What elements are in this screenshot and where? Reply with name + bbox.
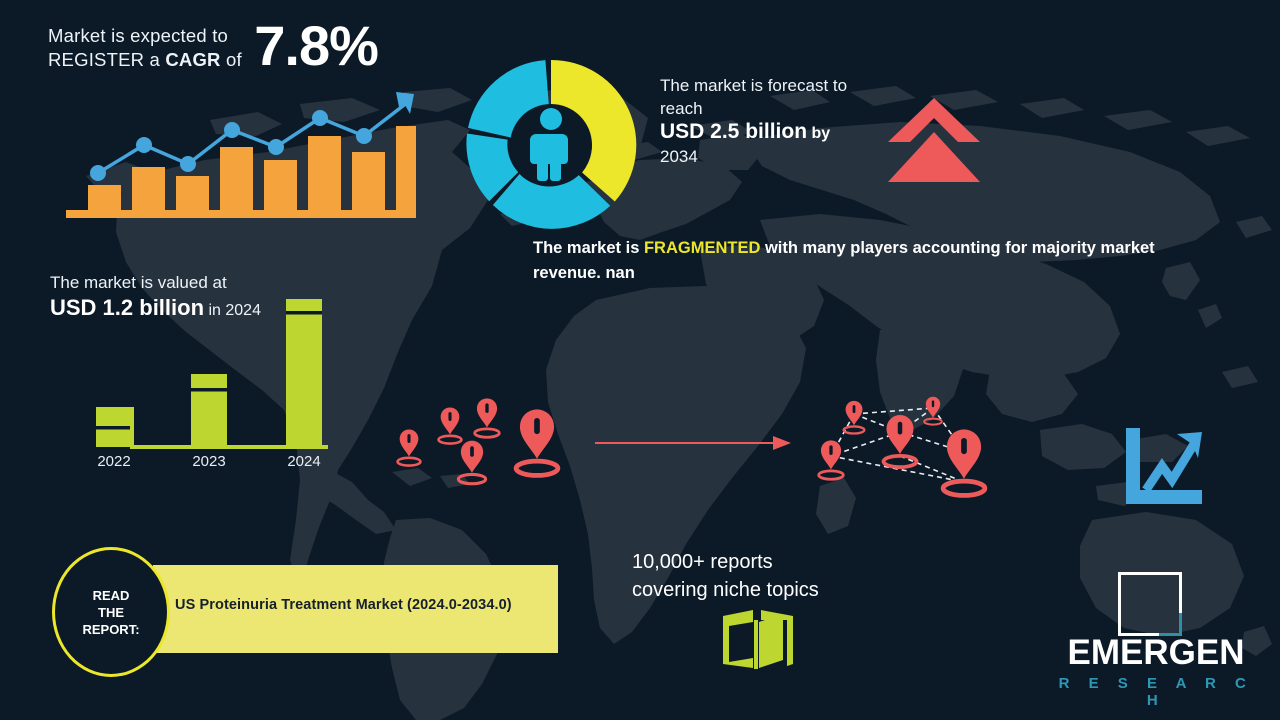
infographic-canvas: Market is expected to REGISTER a CAGR of… (0, 0, 1280, 720)
cagr-line1: Market is expected to (48, 25, 228, 46)
chart-trend (1146, 444, 1194, 490)
reports-count-statement: 10,000+ reports covering niche topics (632, 548, 819, 604)
map-pin-icon (844, 401, 865, 434)
book-right-page (759, 614, 783, 668)
map-pin-cluster-networked (806, 386, 1006, 502)
forecast-value: USD 2.5 billion (660, 120, 807, 143)
map-pin-icon (439, 407, 462, 443)
map-pin-icon (943, 429, 985, 495)
cagr-line2-prefix: REGISTER a (48, 49, 165, 70)
cagr-value: 7.8% (254, 20, 378, 72)
cagr-statement: Market is expected to REGISTER a CAGR of… (48, 20, 468, 72)
donut-person-icon (462, 56, 640, 234)
line-chart-growth-icon (1122, 428, 1204, 508)
map-pin-cluster-scattered (382, 386, 582, 496)
valued-line1: The market is valued at (50, 272, 380, 294)
read-line-2: THE (98, 605, 124, 620)
emergen-research-logo[interactable]: EMERGEN R E S E A R C H (1056, 572, 1256, 700)
forecast-year: 2034 (660, 145, 890, 168)
read-line-3: REPORT: (82, 622, 139, 637)
frag-highlight: FRAGMENTED (644, 239, 760, 257)
report-title: US Proteinuria Treatment Market (2024.0-… (175, 597, 512, 613)
arrow-right-icon (595, 434, 793, 452)
forecast-by: by (807, 125, 830, 142)
chart-baseline (66, 210, 416, 218)
market-value-bar-chart: 2022 2023 2024 (88, 296, 328, 476)
forecast-line1: The market is forecast to (660, 74, 890, 97)
logo-brand-name: EMERGEN (1056, 634, 1256, 672)
frag-prefix: The market is (533, 239, 644, 257)
bar-label-2023: 2023 (192, 453, 225, 470)
map-pin-icon (458, 441, 485, 484)
map-pin-icon (516, 409, 558, 475)
logo-square-icon (1118, 572, 1182, 636)
map-pin-icon (884, 415, 917, 467)
report-banner[interactable]: US Proteinuria Treatment Market (2024.0-… (153, 565, 558, 653)
reports-line1: 10,000+ reports (632, 548, 819, 576)
bar-label-2022: 2022 (97, 453, 130, 470)
logo-brand-subtitle: R E S E A R C H (1056, 675, 1256, 709)
cagr-acronym: CAGR (165, 49, 220, 70)
read-the-report-button[interactable]: READ THE REPORT: (52, 547, 170, 677)
book-spine (754, 620, 758, 669)
map-pin-icon (924, 397, 942, 425)
map-pin-icon (819, 440, 844, 479)
double-chevron-up-icon (888, 98, 980, 182)
fragmentation-statement: The market is FRAGMENTED with many playe… (533, 236, 1213, 286)
map-pin-icon (398, 429, 421, 465)
bar-label-2024: 2024 (287, 453, 320, 470)
read-line-1: READ (93, 588, 130, 603)
cagr-label: Market is expected to REGISTER a CAGR of (48, 24, 242, 72)
growth-chart-icon (66, 88, 416, 222)
cagr-line2-suffix: of (221, 49, 242, 70)
open-book-icon (721, 608, 795, 670)
reports-line2: covering niche topics (632, 576, 819, 604)
forecast-line2: reach (660, 97, 890, 120)
forecast-statement: The market is forecast to reach USD 2.5 … (660, 74, 890, 168)
green-bars (96, 299, 322, 447)
map-pin-icon (475, 398, 500, 437)
read-the-report-label: READ THE REPORT: (82, 587, 139, 638)
